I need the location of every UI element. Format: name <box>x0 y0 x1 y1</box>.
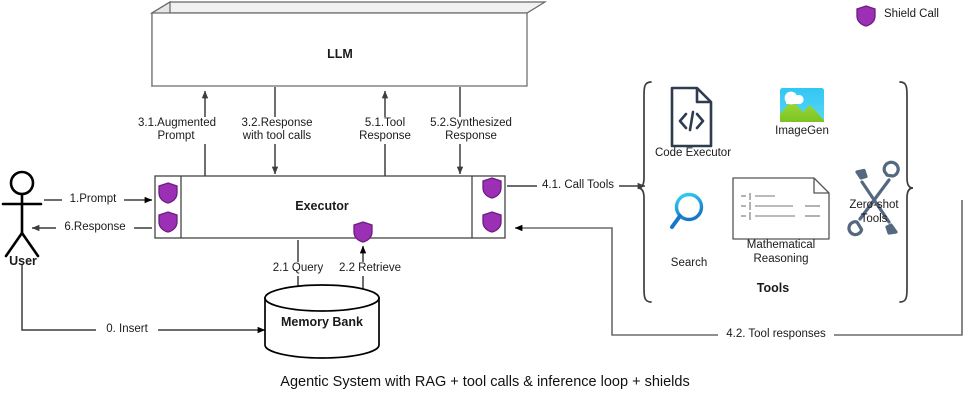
edge-label-tool-response-line2: Response <box>351 130 419 144</box>
edge-label-response: 6.Response <box>56 221 134 235</box>
shield-icon-executor-output-2 <box>482 211 502 233</box>
code-document-icon <box>672 88 711 146</box>
tool-name-code-executor: Code Executor <box>645 147 741 161</box>
edge-insert <box>22 264 265 330</box>
edge-label-insert: 0. Insert <box>96 323 158 337</box>
edge-label-synthesized-response: 5.2.Synthesized <box>428 117 514 131</box>
image-picture-icon <box>780 88 824 122</box>
shield-icon-executor-input-1 <box>158 182 178 204</box>
shield-icon-executor-output-1 <box>482 177 502 199</box>
user-label: User <box>0 255 46 269</box>
edge-label-synthesized-response-line2: Response <box>428 130 514 144</box>
llm-node <box>152 2 545 86</box>
edge-label-augmented-prompt: 3.1.Augmented <box>138 117 214 131</box>
edge-label-response-tool-calls: 3.2.Response <box>238 117 316 131</box>
edge-label-call-tools: 4.1. Call Tools <box>537 179 619 193</box>
tools-group-brace-right <box>900 82 913 302</box>
diagram-vector-layer <box>0 0 970 411</box>
diagram-canvas: LLM Executor Memory Bank User Tools 3.1.… <box>0 0 970 411</box>
legend-label: Shield Call <box>884 8 964 22</box>
edge-label-tool-response: 5.1.Tool <box>351 117 419 131</box>
tool-name-mathematical-reasoning: Mathematical Reasoning <box>729 239 833 266</box>
tools-group-label: Tools <box>728 282 818 296</box>
shield-icon-legend <box>856 5 876 27</box>
shield-icon-executor-input-2 <box>158 211 178 233</box>
tool-name-search: Search <box>657 257 721 271</box>
edge-label-tool-responses: 4.2. Tool responses <box>718 328 834 342</box>
edge-label-response-tool-calls-line2: with tool calls <box>238 130 316 144</box>
edge-label-retrieve: 2.2 Retrieve <box>333 262 407 276</box>
tool-name-imagegen: ImageGen <box>760 125 844 139</box>
edge-label-prompt: 1.Prompt <box>62 193 124 207</box>
math-document-icon <box>733 178 829 239</box>
user-node <box>3 172 41 256</box>
memory-bank-label: Memory Bank <box>266 316 378 330</box>
diagram-caption: Agentic System with RAG + tool calls & i… <box>0 374 970 390</box>
shield-icon-memory-retrieve <box>353 221 373 243</box>
executor-label: Executor <box>266 200 378 214</box>
edge-label-query: 2.1 Query <box>266 262 330 276</box>
tools-group-brace-left <box>638 82 651 302</box>
tool-name-zero-shot-tools: Zero-shot Tools <box>840 199 908 226</box>
edge-label-augmented-prompt-line2: Prompt <box>138 130 214 144</box>
llm-label: LLM <box>276 48 404 62</box>
magnifier-icon <box>672 195 702 228</box>
